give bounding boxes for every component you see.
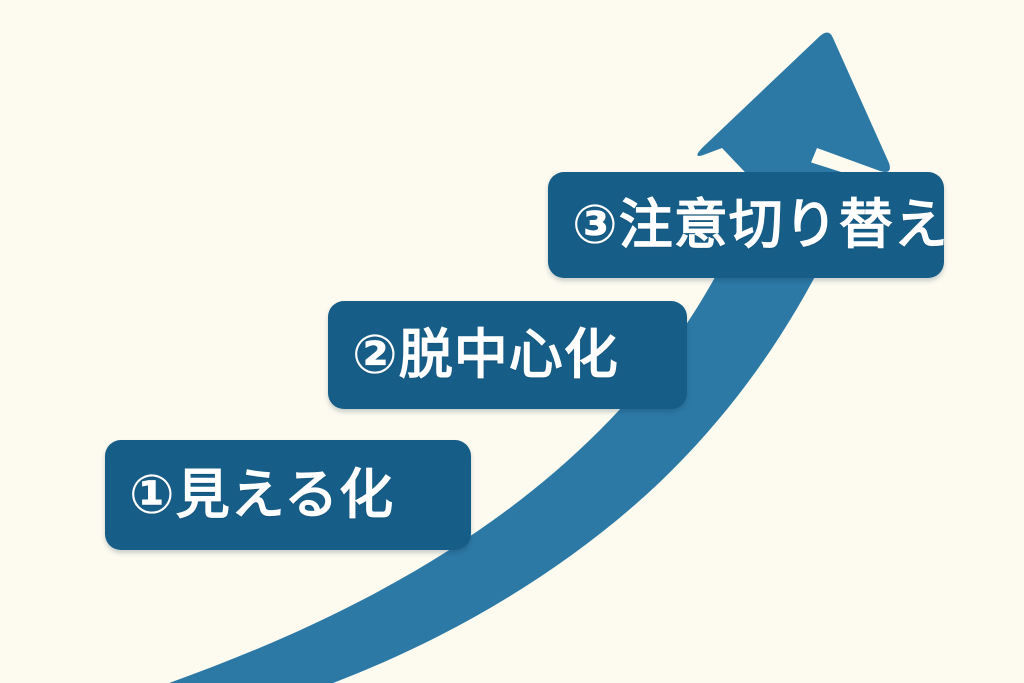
step-box-3[interactable]: ③注意切り替え	[548, 172, 944, 278]
step-box-2[interactable]: ②脱中心化	[328, 301, 687, 409]
step-box-1[interactable]: ①見える化	[105, 440, 471, 550]
infographic-canvas: ①見える化 ②脱中心化 ③注意切り替え	[0, 0, 1024, 683]
step-label-1: ①見える化	[129, 468, 394, 522]
step-label-2: ②脱中心化	[352, 328, 619, 382]
step-label-3: ③注意切り替え	[572, 198, 949, 252]
